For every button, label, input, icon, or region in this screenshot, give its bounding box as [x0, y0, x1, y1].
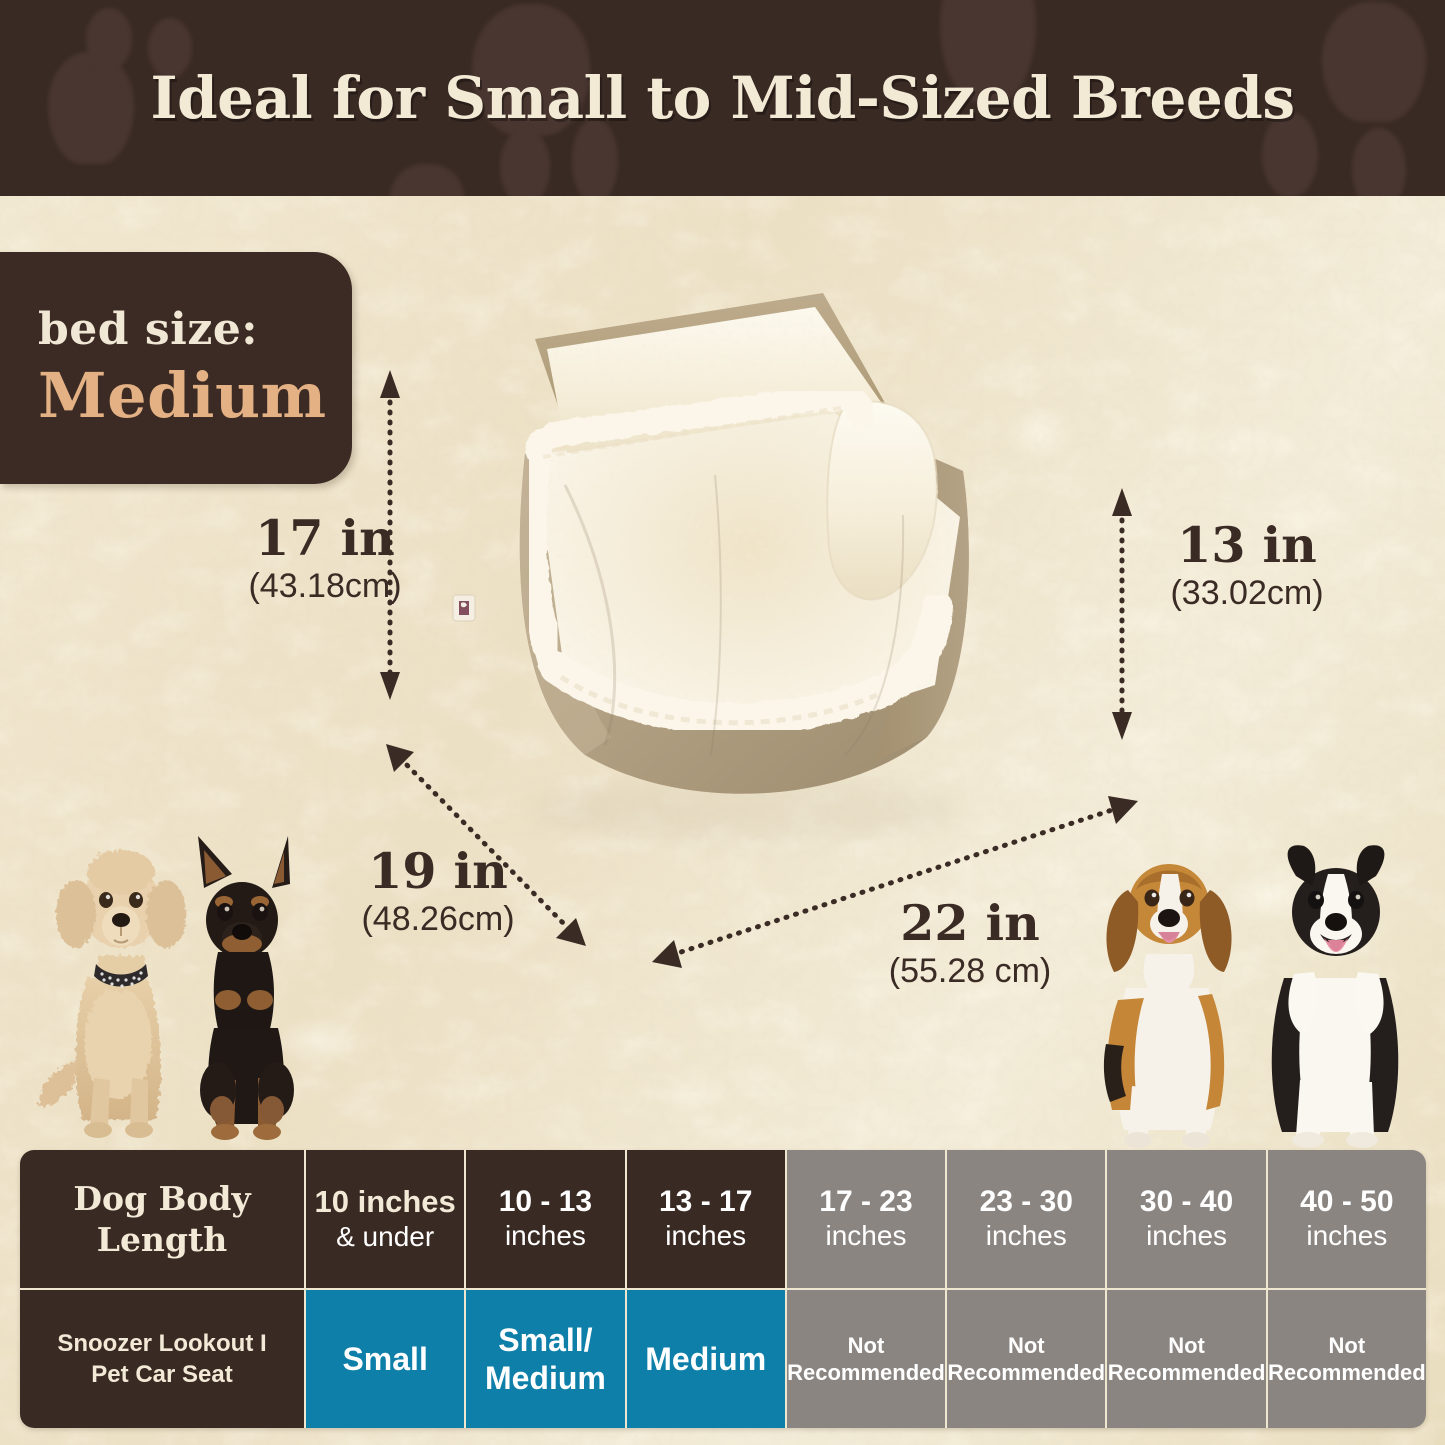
- beagle-photo: [1104, 864, 1232, 1148]
- table-header-cell-5[interactable]: 30 - 40 inches: [1107, 1150, 1267, 1288]
- table-product-row: Snoozer Lookout I Pet Car Seat Small Sma…: [20, 1288, 1426, 1428]
- table-header-cell-1[interactable]: 10 - 13 inches: [466, 1150, 626, 1288]
- dog-photos-left: [28, 828, 318, 1148]
- apricot-poodle-photo: [38, 850, 186, 1138]
- table-header-cell-6[interactable]: 40 - 50 inches: [1268, 1150, 1426, 1288]
- dog-body-length-line2: Length: [97, 1219, 228, 1260]
- header-sub: & under: [336, 1220, 434, 1254]
- header-sub: inches: [665, 1219, 746, 1253]
- dimension-cm: (55.28 cm): [845, 951, 1095, 992]
- table-cell-recommendation-5[interactable]: Not Recommended: [1107, 1288, 1267, 1428]
- dimension-inches: 17 in: [210, 513, 440, 564]
- dimension-label-depth: 19 in (48.26cm): [318, 846, 558, 940]
- dimension-label-width: 22 in (55.28 cm): [845, 898, 1095, 992]
- header-main: 13 - 17: [659, 1185, 752, 1220]
- recommendation-value-2: Recommended: [787, 1359, 945, 1387]
- recommendation-value-2: Medium: [485, 1359, 606, 1397]
- table-header-cell-3[interactable]: 17 - 23 inches: [787, 1150, 947, 1288]
- table-header-row: Dog Body Length 10 inches & under 10 - 1…: [20, 1150, 1426, 1288]
- header-main: 23 - 30: [980, 1185, 1073, 1220]
- recommendation-value-2: Recommended: [947, 1359, 1105, 1387]
- header-sub: inches: [1306, 1219, 1387, 1253]
- header-sub: inches: [1146, 1219, 1227, 1253]
- recommendation-value-2: Recommended: [1268, 1359, 1426, 1387]
- recommendation-value: Not: [1008, 1332, 1045, 1360]
- dimension-label-height: 17 in (43.18cm): [210, 513, 440, 607]
- recommendation-value: Small: [342, 1340, 427, 1378]
- bed-size-value: Medium: [38, 359, 352, 432]
- table-cell-recommendation-2[interactable]: Medium: [627, 1288, 787, 1428]
- table-header-row-label: Dog Body Length: [20, 1150, 306, 1288]
- dimension-cm: (43.18cm): [210, 566, 440, 607]
- page-title: Ideal for Small to Mid-Sized Breeds: [0, 0, 1445, 196]
- recommendation-value-2: Recommended: [1108, 1359, 1266, 1387]
- header-main: 30 - 40: [1140, 1185, 1233, 1220]
- header-main: 40 - 50: [1300, 1185, 1393, 1220]
- header-main: 10 inches: [314, 1184, 455, 1220]
- dimension-inches: 19 in: [318, 846, 558, 897]
- header-banner: Ideal for Small to Mid-Sized Breeds: [0, 0, 1445, 196]
- table-header-cell-2[interactable]: 13 - 17 inches: [627, 1150, 787, 1288]
- recommendation-value: Medium: [645, 1340, 766, 1378]
- border-collie-photo: [1272, 845, 1399, 1148]
- product-image-pet-car-seat: [415, 285, 1065, 885]
- table-cell-recommendation-0[interactable]: Small: [306, 1288, 466, 1428]
- miniature-pinscher-photo: [198, 836, 294, 1140]
- table-cell-recommendation-3[interactable]: Not Recommended: [787, 1288, 947, 1428]
- dimension-inches: 22 in: [845, 898, 1095, 949]
- table-cell-recommendation-1[interactable]: Small/ Medium: [466, 1288, 626, 1428]
- header-main: 17 - 23: [819, 1185, 912, 1220]
- header-sub: inches: [986, 1219, 1067, 1253]
- dimension-cm: (48.26cm): [318, 899, 558, 940]
- recommendation-value: Not: [1329, 1332, 1366, 1360]
- dimension-inches: 13 in: [1132, 520, 1362, 571]
- recommendation-value: Small/: [498, 1321, 592, 1359]
- dimension-label-back-height: 13 in (33.02cm): [1132, 520, 1362, 614]
- table-cell-recommendation-4[interactable]: Not Recommended: [947, 1288, 1107, 1428]
- table-cell-recommendation-6[interactable]: Not Recommended: [1268, 1288, 1426, 1428]
- infographic-canvas: Ideal for Small to Mid-Sized Breeds bed …: [0, 0, 1445, 1445]
- header-sub: inches: [505, 1219, 586, 1253]
- table-product-label: Snoozer Lookout I Pet Car Seat: [20, 1288, 306, 1428]
- size-chart-table: Dog Body Length 10 inches & under 10 - 1…: [20, 1150, 1426, 1428]
- bed-size-badge: bed size: Medium: [0, 252, 352, 484]
- dimension-cm: (33.02cm): [1132, 573, 1362, 614]
- recommendation-value: Not: [1168, 1332, 1205, 1360]
- recommendation-value: Not: [848, 1332, 885, 1360]
- bed-size-label: bed size:: [38, 304, 352, 355]
- header-main: 10 - 13: [499, 1185, 592, 1220]
- product-name-line1: Snoozer Lookout I: [57, 1328, 266, 1359]
- table-header-cell-4[interactable]: 23 - 30 inches: [947, 1150, 1107, 1288]
- product-name-line2: Pet Car Seat: [91, 1359, 232, 1390]
- table-header-cell-0[interactable]: 10 inches & under: [306, 1150, 466, 1288]
- dog-body-length-line1: Dog Body: [73, 1178, 250, 1219]
- dog-photos-right: [1088, 838, 1428, 1148]
- arrow-backheight-13in: [1112, 488, 1132, 740]
- header-sub: inches: [826, 1219, 907, 1253]
- brand-tag-icon: [453, 595, 475, 621]
